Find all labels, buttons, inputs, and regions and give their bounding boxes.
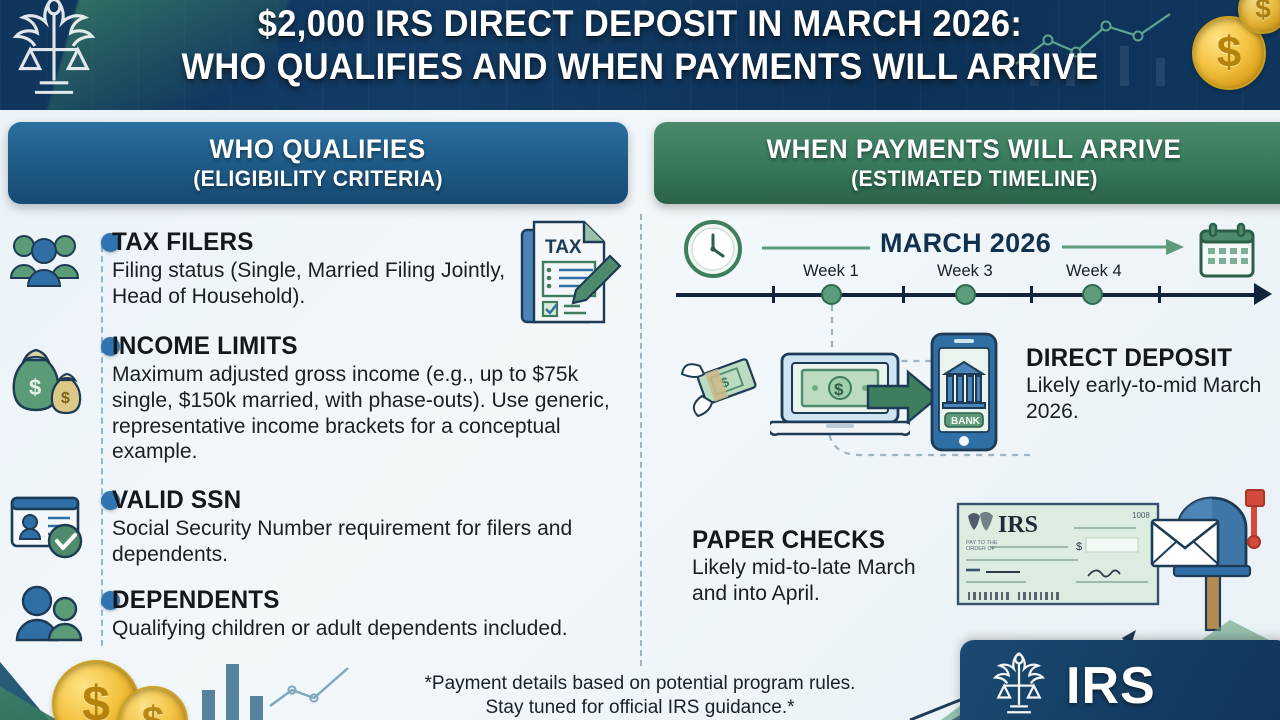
title-line-2: WHO QUALIFIES AND WHEN PAYMENTS WILL ARR…: [45, 49, 1235, 85]
timeline-marker-label-week-3: Week 3: [937, 262, 993, 281]
timeline-marker-week-3: [955, 284, 976, 305]
timeline-tick: [902, 286, 905, 303]
block-body: Likely mid-to-late March and into April.: [692, 555, 957, 607]
coin-dollar-symbol: $: [142, 699, 164, 720]
item-title: DEPENDENTS: [112, 586, 578, 615]
panel-divider: [640, 214, 642, 666]
people-group-icon: [8, 228, 82, 290]
irs-eagle-logo: [982, 646, 1056, 720]
eligibility-item-dependents: DEPENDENTS Qualifying children or adult …: [112, 586, 592, 642]
svg-text:TAX: TAX: [545, 237, 582, 258]
block-title: PAPER CHECKS: [692, 526, 954, 555]
money-bags-icon: $ $: [8, 342, 86, 420]
bullet-connector-rail: [101, 246, 103, 646]
item-title: VALID SSN: [112, 486, 578, 515]
timeline-left-rule: [762, 242, 872, 254]
timeline-arrowhead: [1254, 283, 1272, 305]
timeline-right-arrow: [1062, 236, 1190, 258]
item-body: Social Security Number requirement for f…: [112, 516, 582, 568]
svg-text:$: $: [61, 390, 70, 407]
id-card-check-icon: [8, 492, 88, 562]
left-panel-subheading: (ELIGIBILITY CRITERIA): [193, 166, 443, 192]
block-body: Likely early-to-mid March 2026.: [1026, 373, 1271, 425]
title-line-1: $2,000 IRS DIRECT DEPOSIT IN MARCH 2026:: [45, 6, 1235, 42]
envelope-icon: [1152, 520, 1218, 566]
check-brand: IRS: [998, 512, 1038, 538]
direct-deposit-block: DIRECT DEPOSIT Likely early-to-mid March…: [1026, 344, 1276, 425]
item-body: Maximum adjusted gross income (e.g., up …: [112, 362, 622, 465]
flying-money-icon: $: [680, 348, 766, 424]
irs-check-icon: IRS 1008 PAY TO THE ORDER OF $: [956, 500, 1166, 608]
item-title: INCOME LIMITS: [112, 332, 616, 361]
eligibility-item-valid-ssn: VALID SSN Social Security Number require…: [112, 486, 592, 568]
timeline-tick: [772, 286, 775, 303]
left-panel-header: WHO QUALIFIES (ELIGIBILITY CRITERIA): [8, 122, 628, 204]
right-panel-subheading: (ESTIMATED TIMELINE): [851, 166, 1098, 192]
timeline-tick: [1158, 286, 1161, 303]
infographic-canvas: $ $ $2,000 IRS DIRECT DEPOSIT IN MARCH 2…: [0, 0, 1280, 720]
item-body: Qualifying children or adult dependents …: [112, 616, 582, 642]
irs-logo-badge: IRS: [960, 640, 1280, 720]
item-title: TAX FILERS: [112, 228, 510, 257]
eligibility-item-income-limits: INCOME LIMITS Maximum adjusted gross inc…: [112, 332, 632, 465]
coin-dollar-symbol: $: [82, 675, 110, 720]
page-title: $2,000 IRS DIRECT DEPOSIT IN MARCH 2026:…: [0, 6, 1280, 86]
clock-icon: [682, 218, 744, 280]
timeline-marker-week-4: [1082, 284, 1103, 305]
bank-label: BANK: [951, 416, 981, 427]
bar-chart-icon: [196, 650, 356, 720]
svg-text:$: $: [834, 380, 844, 399]
phone-bank-icon: BANK: [928, 330, 1000, 454]
timeline-month-label: MARCH 2026: [880, 228, 1051, 259]
parent-child-icon: [12, 582, 88, 648]
timeline-marker-label-week-4: Week 4: [1066, 262, 1122, 281]
right-panel-header: WHEN PAYMENTS WILL ARRIVE (ESTIMATED TIM…: [654, 122, 1280, 204]
paper-checks-block: PAPER CHECKS Likely mid-to-late March an…: [692, 526, 962, 607]
right-panel-heading: WHEN PAYMENTS WILL ARRIVE: [767, 134, 1182, 165]
timeline-marker-week-1: [821, 284, 842, 305]
header-banner: $ $ $2,000 IRS DIRECT DEPOSIT IN MARCH 2…: [0, 0, 1280, 110]
block-title: DIRECT DEPOSIT: [1026, 344, 1269, 373]
check-currency: $: [1076, 541, 1082, 553]
tax-document-pen-icon: TAX: [514, 216, 624, 328]
timeline-tick: [1030, 286, 1033, 303]
svg-text:$: $: [29, 375, 41, 400]
eligibility-item-tax-filers: TAX FILERS Filing status (Single, Marrie…: [112, 228, 522, 310]
item-body: Filing status (Single, Married Filing Jo…: [112, 258, 514, 310]
timeline-marker-label-week-1: Week 1: [803, 262, 859, 281]
left-panel-heading: WHO QUALIFIES: [210, 134, 426, 165]
irs-badge-text: IRS: [1066, 656, 1156, 716]
calendar-icon: [1196, 222, 1258, 280]
svg-text:ORDER OF: ORDER OF: [966, 546, 996, 552]
